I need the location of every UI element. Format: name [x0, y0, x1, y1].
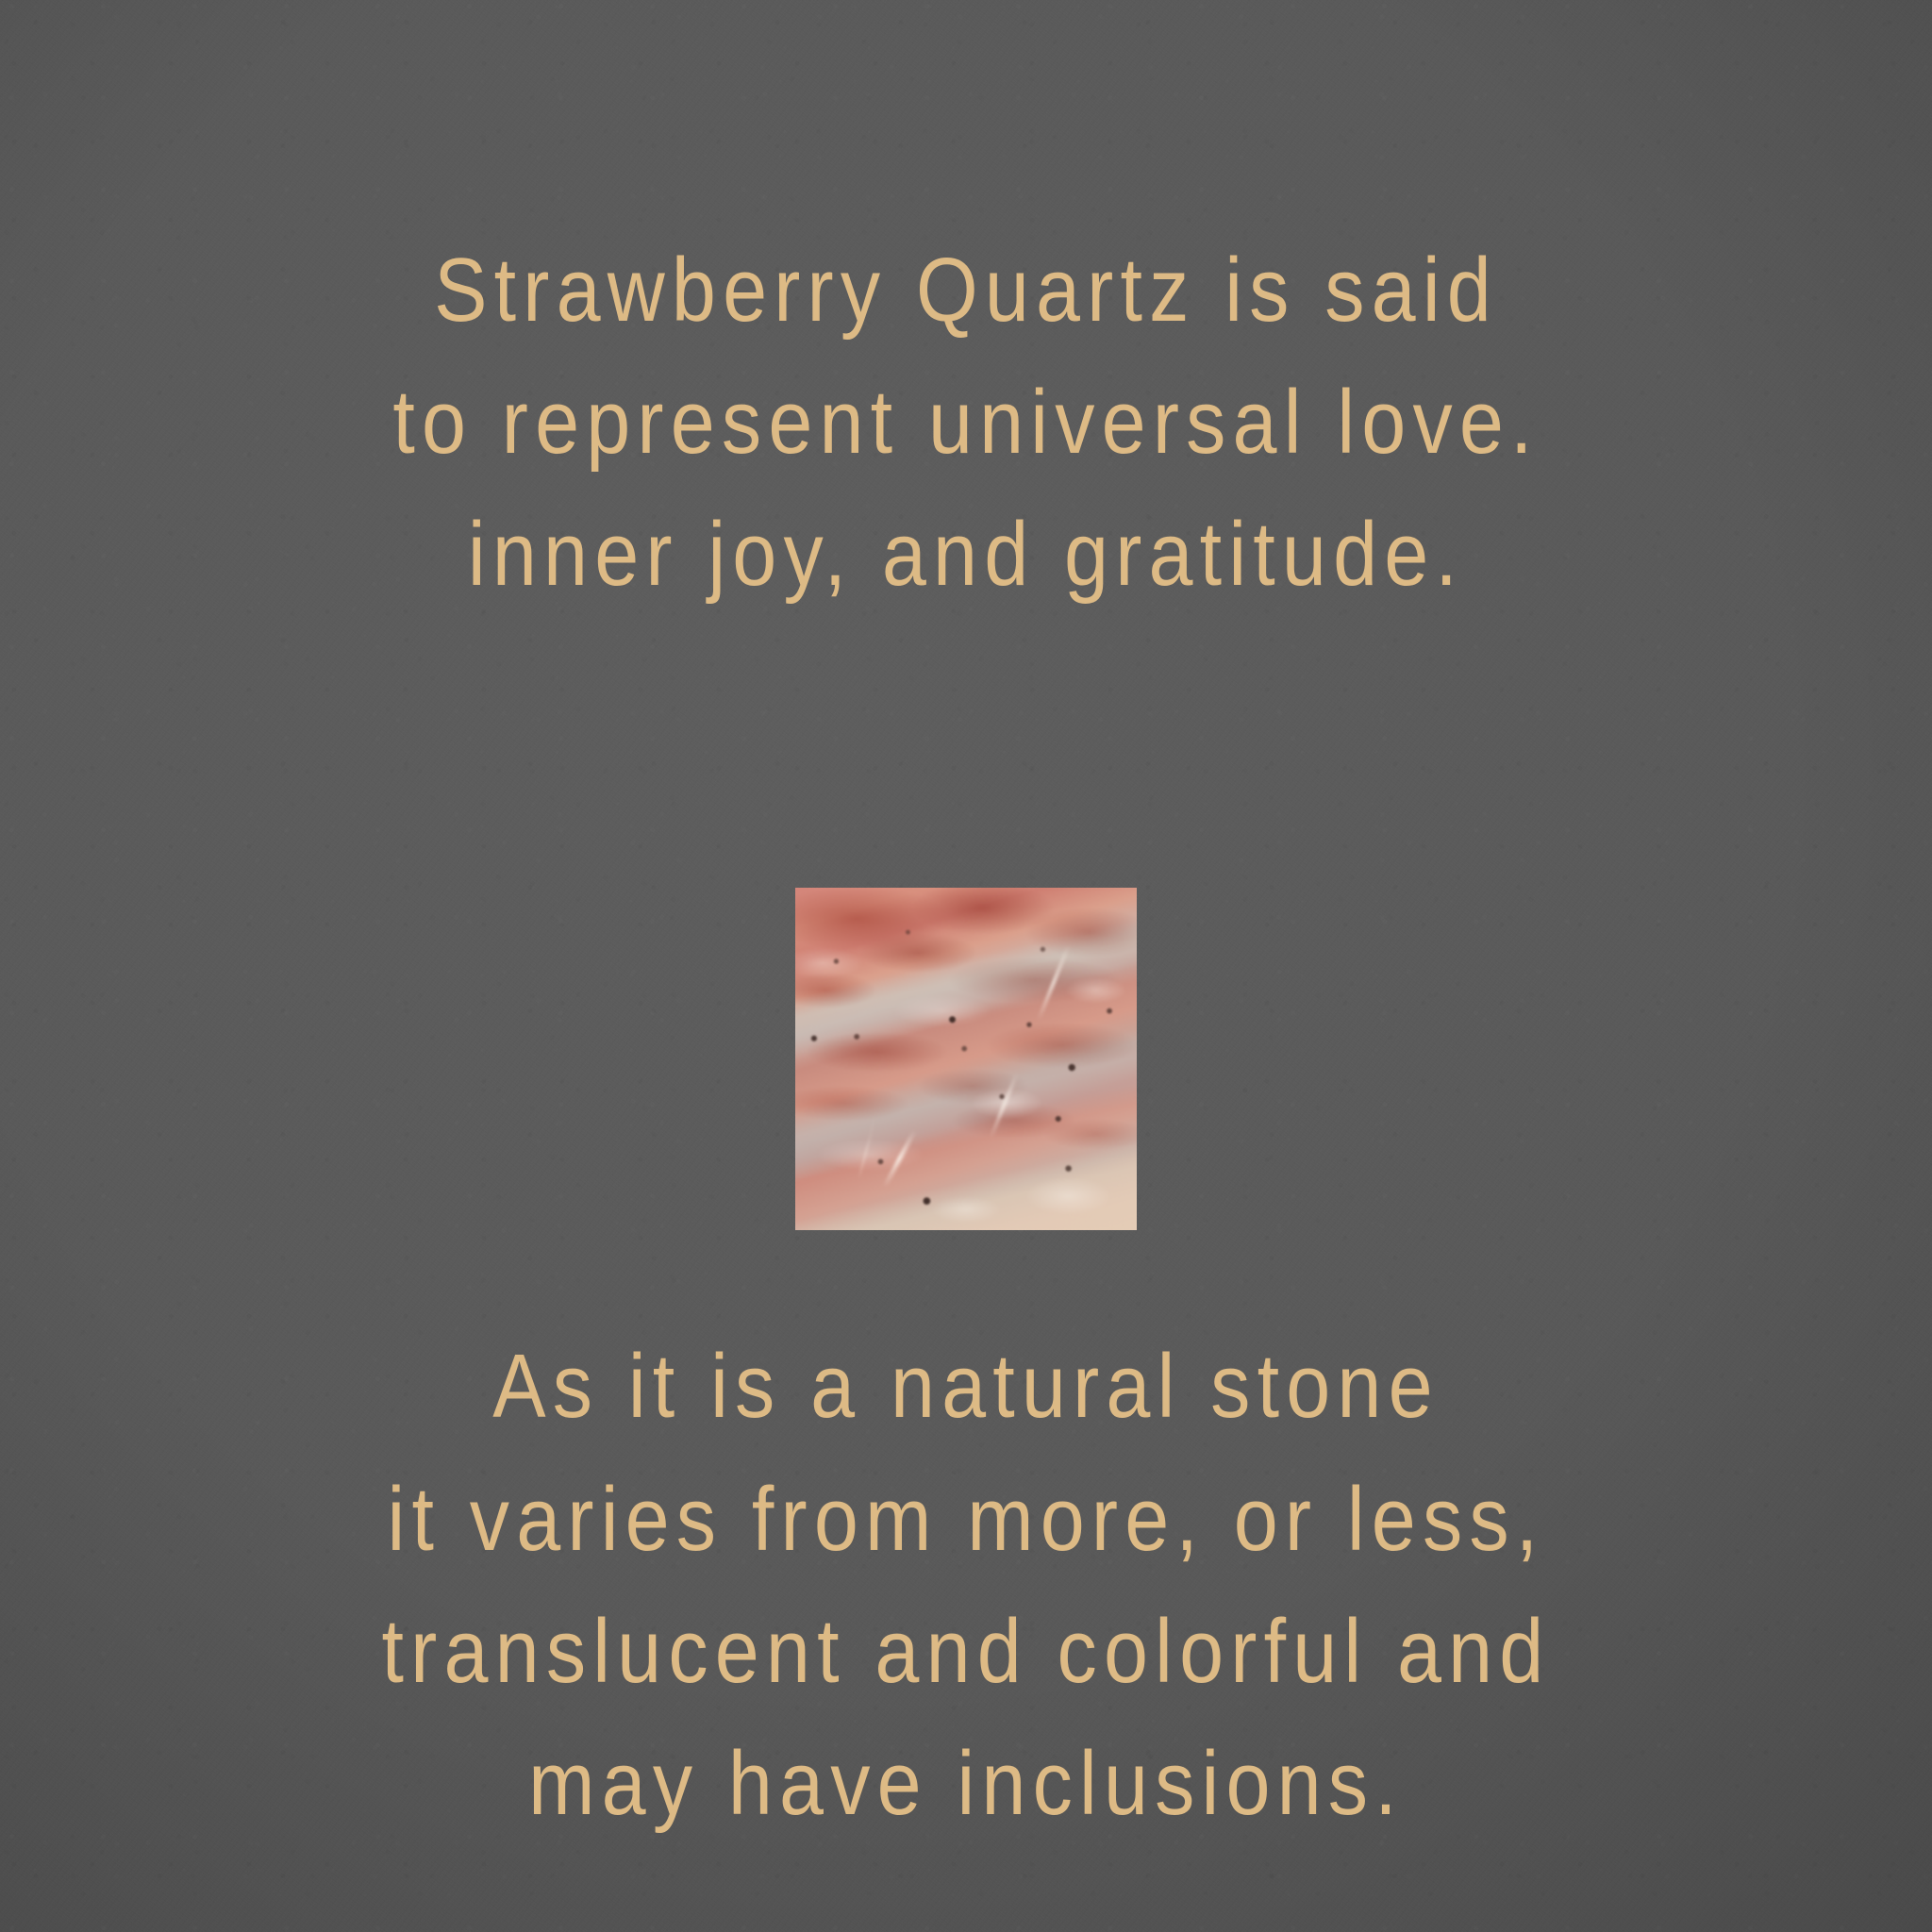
bottom-text-line-2: it varies from more, or less, [116, 1454, 1816, 1586]
card-content: Strawberry Quartz is said to represent u… [0, 0, 1932, 1932]
info-card: Strawberry Quartz is said to represent u… [0, 0, 1932, 1932]
strawberry-quartz-photo [795, 888, 1137, 1230]
bottom-text-line-1: As it is a natural stone [116, 1321, 1816, 1453]
top-text-line-2: to represent universal love. [116, 357, 1816, 489]
top-text-block: Strawberry Quartz is said to represent u… [116, 225, 1816, 621]
top-text-line-1: Strawberry Quartz is said [116, 225, 1816, 357]
bottom-text-block: As it is a natural stone it varies from … [116, 1321, 1816, 1850]
bottom-text-line-4: may have inclusions. [116, 1718, 1816, 1850]
bottom-text-line-3: translucent and colorful and [116, 1586, 1816, 1718]
top-text-line-3: inner joy, and gratitude. [116, 489, 1816, 621]
gem-softfocus-layer [795, 888, 1137, 1230]
